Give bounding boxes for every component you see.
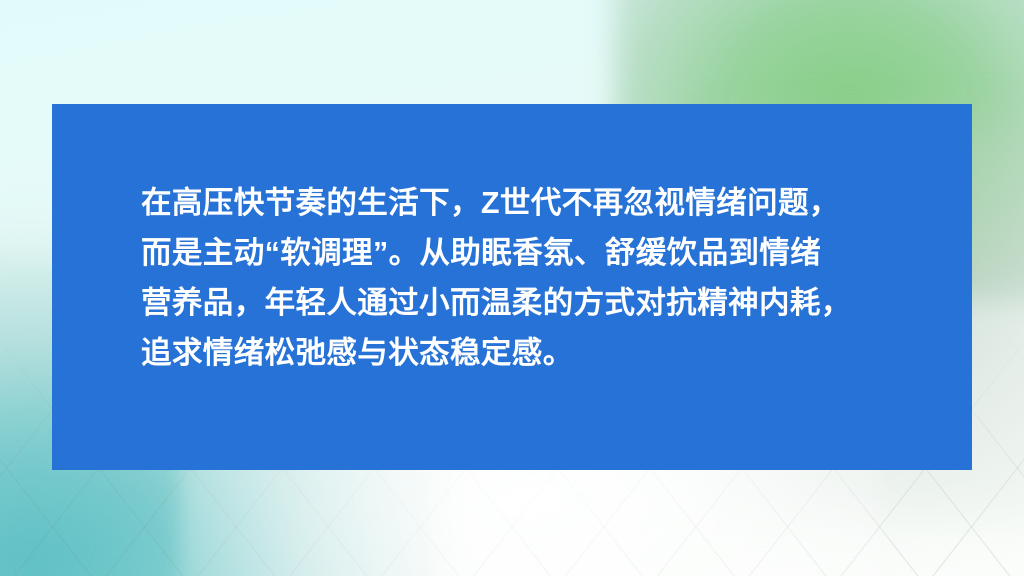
blue-content-panel: 在高压快节奏的生活下，Z世代不再忽视情绪问题， 而是主动“软调理”。从助眠香氛、… — [52, 104, 972, 470]
panel-text-line-3: 营养品，年轻人通过小而温柔的方式对抗精神内耗， — [141, 278, 936, 328]
panel-text-line-2: 而是主动“软调理”。从助眠香氛、舒缓饮品到情绪 — [141, 228, 936, 278]
slide-canvas: 在高压快节奏的生活下，Z世代不再忽视情绪问题， 而是主动“软调理”。从助眠香氛、… — [0, 0, 1024, 576]
panel-text-block: 在高压快节奏的生活下，Z世代不再忽视情绪问题， 而是主动“软调理”。从助眠香氛、… — [141, 178, 936, 378]
panel-text-line-4: 追求情绪松弛感与状态稳定感。 — [141, 328, 936, 378]
panel-text-line-1: 在高压快节奏的生活下，Z世代不再忽视情绪问题， — [141, 178, 936, 228]
